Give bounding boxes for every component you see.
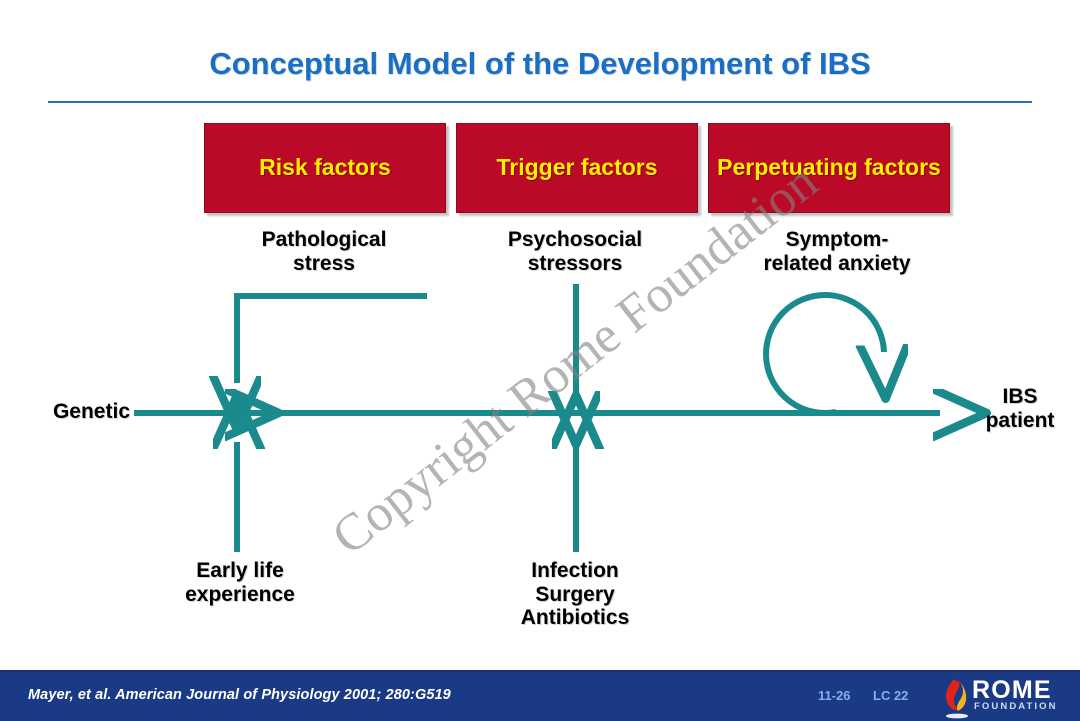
label-ibs-patient: IBS patient <box>960 385 1080 432</box>
pathological-stress-elbow-arrow <box>237 296 427 383</box>
footer-citation: Mayer, et al. American Journal of Physio… <box>28 687 451 703</box>
footer-page-number: 11-26 <box>818 688 851 703</box>
footer-lecture-code: LC 22 <box>873 688 908 703</box>
origin-node-dot <box>224 400 250 426</box>
slide-canvas: Conceptual Model of the Development of I… <box>0 0 1080 721</box>
logo-wordmark: ROME <box>972 678 1052 703</box>
label-early-life-experience: Early life experience <box>140 559 340 606</box>
rome-foundation-logo: ROME FOUNDATION <box>940 675 1074 721</box>
logo-subtitle: FOUNDATION <box>974 702 1058 712</box>
label-pathological-stress: Pathological stress <box>194 228 454 275</box>
label-genetic: Genetic <box>10 400 130 424</box>
label-infection-surgery-antibiotics: Infection Surgery Antibiotics <box>470 559 680 630</box>
label-symptom-related-anxiety: Symptom- related anxiety <box>712 228 962 275</box>
symptom-anxiety-loop-arrow <box>766 295 884 413</box>
label-psychosocial-stressors: Psychosocial stressors <box>450 228 700 275</box>
footer-bar: Mayer, et al. American Journal of Physio… <box>0 670 1080 721</box>
